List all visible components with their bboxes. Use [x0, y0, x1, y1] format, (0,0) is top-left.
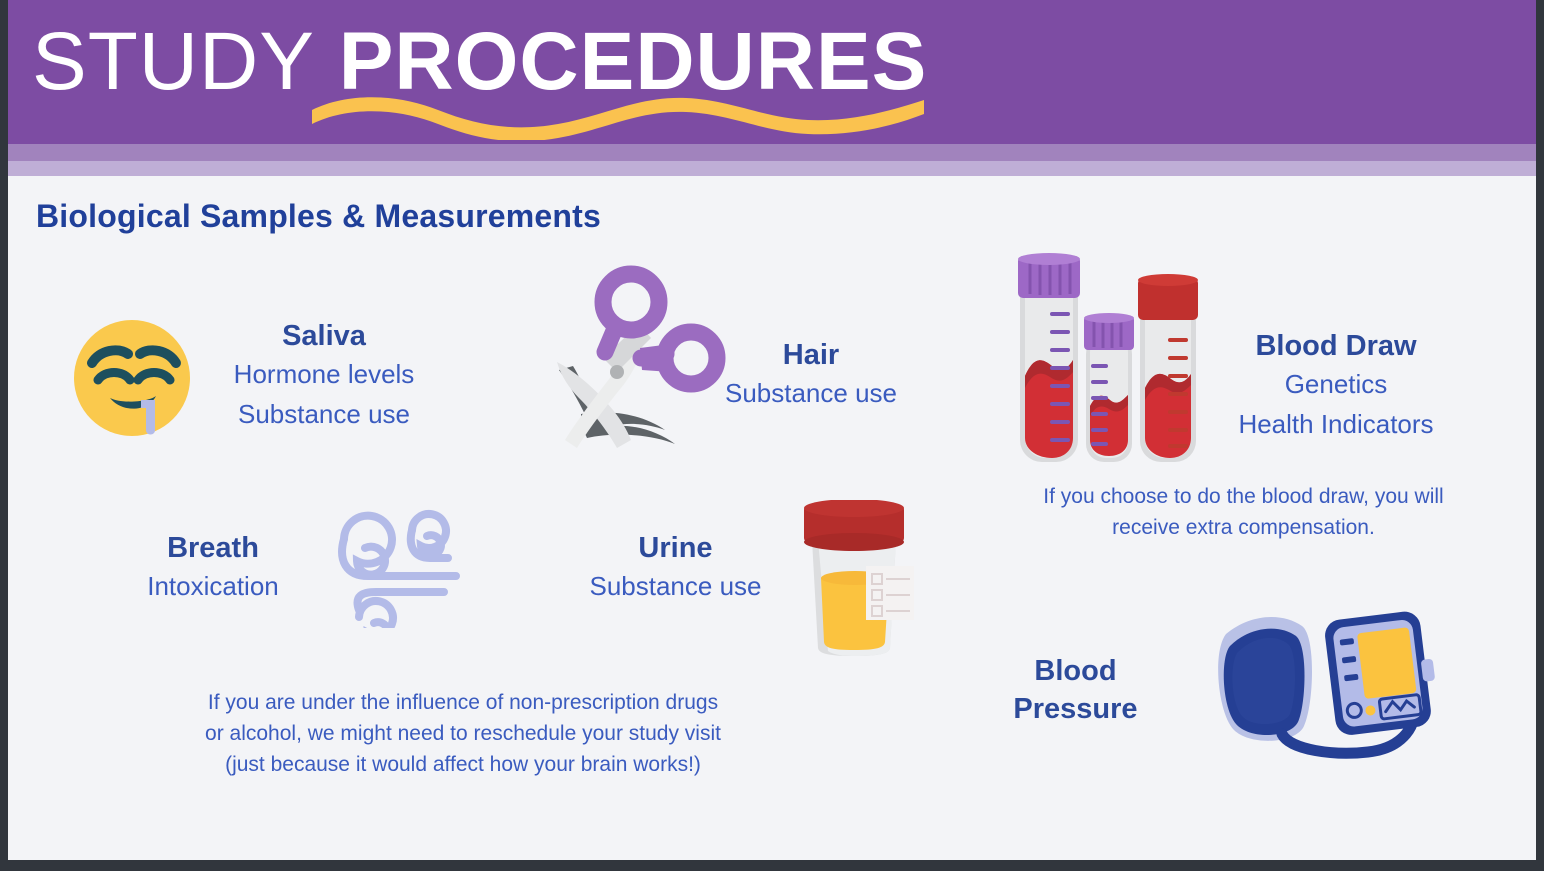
header-band-light: [8, 161, 1536, 176]
saliva-title: Saliva: [208, 318, 440, 354]
blood-draw-title: Blood Draw: [1216, 328, 1456, 364]
title-word-study: STUDY: [32, 16, 315, 107]
bottom-note: If you are under the influence of non-pr…: [138, 687, 788, 780]
header-band-medium: [8, 144, 1536, 161]
section-heading: Biological Samples & Measurements: [36, 198, 601, 235]
bottom-note-line-1: If you are under the influence of non-pr…: [138, 687, 788, 718]
specimen-cup-icon: [790, 500, 918, 658]
wind-breath-icon: [296, 498, 481, 628]
blood-pressure-title-line-1: Blood: [968, 652, 1183, 690]
blood-draw-line-1: Genetics: [1216, 364, 1456, 404]
scissors-cutting-hair-icon: [543, 262, 733, 452]
yellow-wave-underline-icon: [308, 88, 928, 140]
saliva-line-2: Substance use: [208, 394, 440, 434]
urine-title: Urine: [563, 530, 788, 566]
urine-text-block: Urine Substance use: [563, 530, 788, 606]
blood-pressure-monitor-icon: [1204, 600, 1466, 760]
hair-line-1: Substance use: [706, 373, 916, 413]
hair-text-block: Hair Substance use: [706, 337, 916, 413]
breath-line-1: Intoxication: [113, 566, 313, 606]
blood-draw-text-block: Blood Draw Genetics Health Indicators: [1216, 328, 1456, 444]
blood-draw-note: If you choose to do the blood draw, you …: [1011, 481, 1476, 543]
breath-title: Breath: [113, 530, 313, 566]
breath-text-block: Breath Intoxication: [113, 530, 313, 606]
saliva-text-block: Saliva Hormone levels Substance use: [208, 318, 440, 434]
bottom-note-line-2: or alcohol, we might need to reschedule …: [138, 718, 788, 749]
slide-canvas: STUDY PROCEDURES Biological Samples & Me…: [8, 0, 1536, 860]
drooling-face-emoji-icon: [70, 320, 195, 445]
saliva-line-1: Hormone levels: [208, 354, 440, 394]
hair-title: Hair: [706, 337, 916, 373]
blood-pressure-text-block: Blood Pressure: [968, 652, 1183, 728]
blood-draw-line-2: Health Indicators: [1216, 404, 1456, 444]
bottom-note-line-3: (just because it would affect how your b…: [138, 749, 788, 780]
header-banner: STUDY PROCEDURES: [8, 0, 1536, 144]
urine-line-1: Substance use: [563, 566, 788, 606]
blood-vials-icon: [1008, 248, 1208, 473]
blood-pressure-title-line-2: Pressure: [968, 690, 1183, 728]
